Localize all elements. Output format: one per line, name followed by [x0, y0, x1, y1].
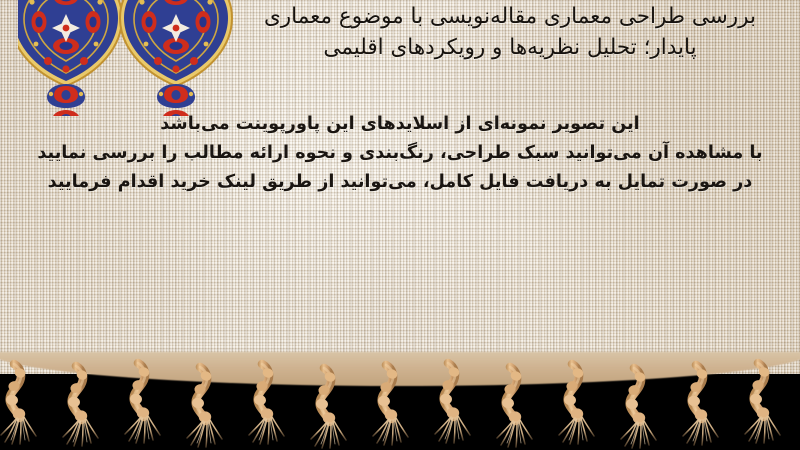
slide-body-line-1: این تصویر نمونه‌ای از اسلایدهای این پاور… [22, 110, 778, 139]
slide-body-line-2: با مشاهده آن می‌توانید سبک طراحی، رنگ‌بن… [22, 139, 778, 168]
tazhib-pendant-ornament-left [18, 0, 122, 116]
slide-body-line-3: در صورت تمایل به دریافت فایل کامل، می‌تو… [22, 168, 778, 197]
slide-title: بررسی طراحی معماری مقاله‌نویسی با موضوع … [240, 2, 780, 63]
tazhib-pendant-ornament-right [120, 0, 232, 116]
presentation-slide: بررسی طراحی معماری مقاله‌نویسی با موضوع … [0, 0, 800, 450]
slide-title-line-2: پایدار؛ تحلیل نظریه‌ها و رویکردهای اقلیم… [240, 33, 780, 64]
tazhib-ornament-group [18, 0, 248, 116]
slide-body-text: این تصویر نمونه‌ای از اسلایدهای این پاور… [22, 110, 778, 198]
slide-title-line-1: بررسی طراحی معماری مقاله‌نویسی با موضوع … [240, 2, 780, 33]
